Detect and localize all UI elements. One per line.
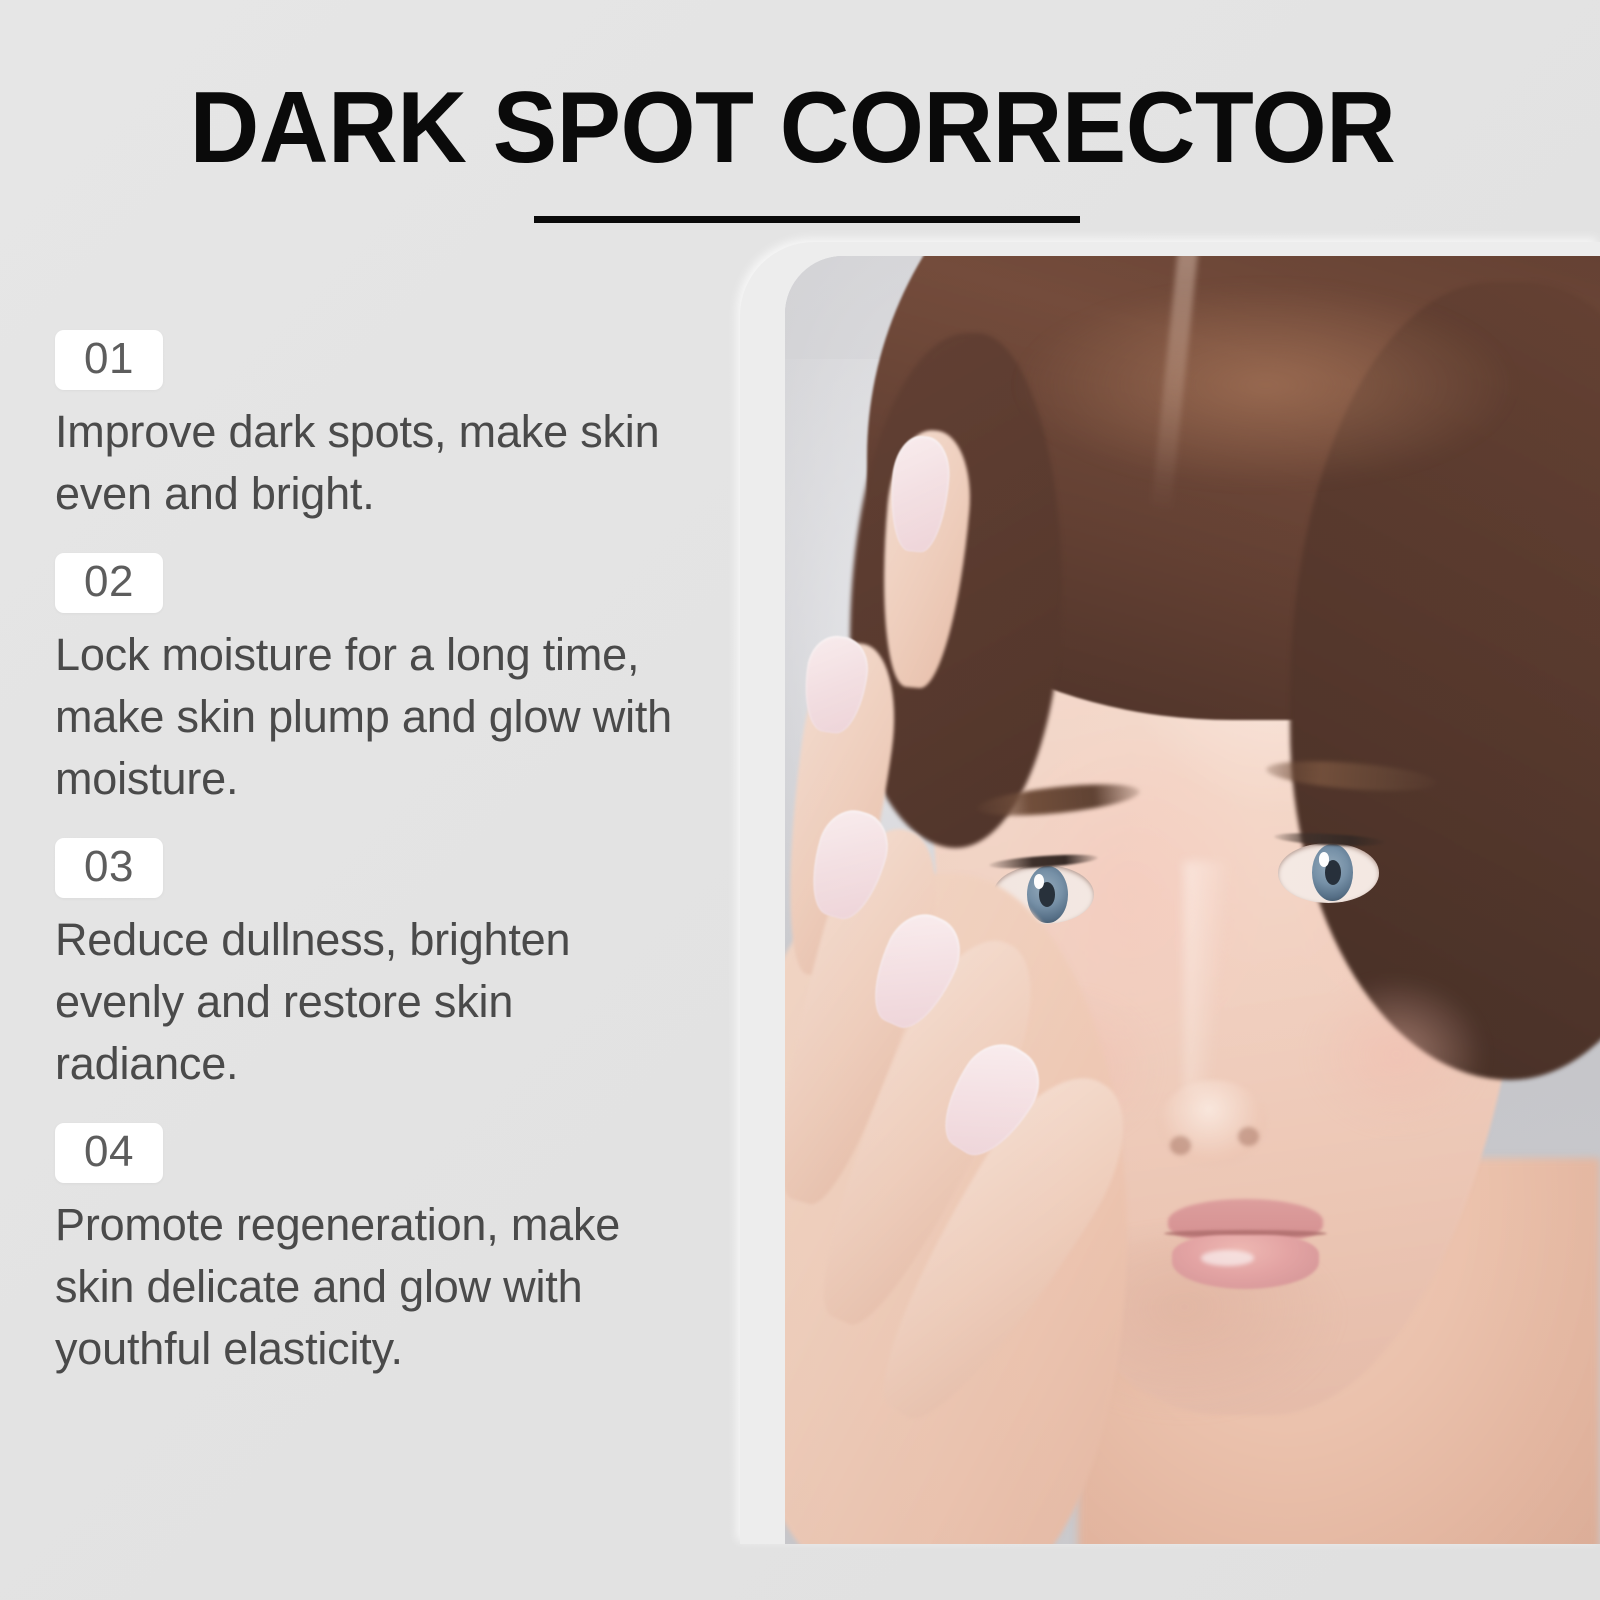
iris-right (1312, 844, 1352, 901)
feature-description: Promote regeneration, make skin delicate… (55, 1194, 700, 1380)
feature-number-badge: 01 (55, 330, 163, 390)
feature-description: Improve dark spots, make skin even and b… (55, 401, 700, 525)
feature-number-badge: 03 (55, 838, 163, 898)
cheek-blush-right (1307, 977, 1486, 1132)
page-title: DARK SPOT CORRECTOR (36, 72, 1550, 184)
hair-sheen (1013, 282, 1518, 488)
header: DARK SPOT CORRECTOR (0, 0, 1600, 250)
lip-gloss-highlight (1201, 1250, 1254, 1265)
feature-item-04: 04 Promote regeneration, make skin delic… (0, 1123, 740, 1380)
feature-item-02: 02 Lock moisture for a long time, make s… (0, 553, 740, 810)
model-photo (785, 256, 1600, 1544)
photo-scene (785, 256, 1600, 1544)
eye-right (1278, 843, 1379, 902)
product-feature-page: DARK SPOT CORRECTOR 01 Improve dark spot… (0, 0, 1600, 1600)
feature-item-03: 03 Reduce dullness, brighten evenly and … (0, 838, 740, 1095)
nostril-left (1170, 1136, 1191, 1155)
feature-description: Reduce dullness, brighten evenly and res… (55, 909, 700, 1095)
eye-glint-left (1034, 874, 1045, 889)
feature-number-badge: 02 (55, 553, 163, 613)
feature-list: 01 Improve dark spots, make skin even an… (0, 330, 740, 1380)
feature-item-01: 01 Improve dark spots, make skin even an… (0, 330, 740, 525)
feature-number-badge: 04 (55, 1123, 163, 1183)
title-divider (534, 216, 1080, 223)
photo-card (740, 242, 1600, 1544)
nose-bridge (1184, 861, 1233, 1093)
feature-description: Lock moisture for a long time, make skin… (55, 624, 700, 810)
